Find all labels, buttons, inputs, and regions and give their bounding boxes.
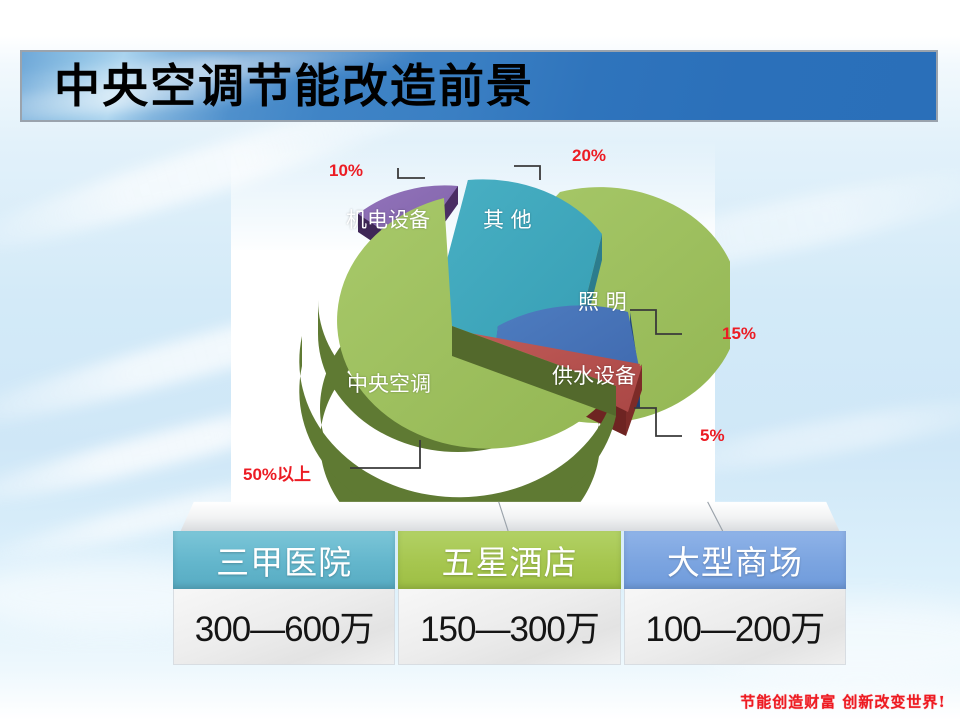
title-banner: 中央空调节能改造前景 (20, 50, 938, 122)
table-header-hospital: 三甲医院 (173, 531, 395, 589)
table-column-hotel[interactable]: 五星酒店 150—300万 (398, 531, 620, 665)
chart-panel-fade (231, 140, 715, 250)
table-header-hotel: 五星酒店 (398, 531, 620, 589)
comparison-table: 三甲医院 300—600万 五星酒店 150—300万 大型商场 100—200… (160, 500, 860, 670)
table-column-mall[interactable]: 大型商场 100—200万 (624, 531, 846, 665)
footer-slogan: 节能创造财富 创新改变世界! (740, 691, 946, 712)
slide-canvas: 中央空调节能改造前景 (0, 0, 960, 720)
table-grid: 三甲医院 300—600万 五星酒店 150—300万 大型商场 100—200… (173, 531, 846, 665)
table-top-bevel (160, 500, 860, 532)
table-cell-hotel-value: 150—300万 (398, 589, 620, 665)
table-header-mall: 大型商场 (624, 531, 846, 589)
table-cell-mall-value: 100—200万 (624, 589, 846, 665)
page-title: 中央空调节能改造前景 (54, 63, 534, 109)
table-column-hospital[interactable]: 三甲医院 300—600万 (173, 531, 395, 665)
table-cell-hospital-value: 300—600万 (173, 589, 395, 665)
chart-panel (231, 250, 715, 504)
